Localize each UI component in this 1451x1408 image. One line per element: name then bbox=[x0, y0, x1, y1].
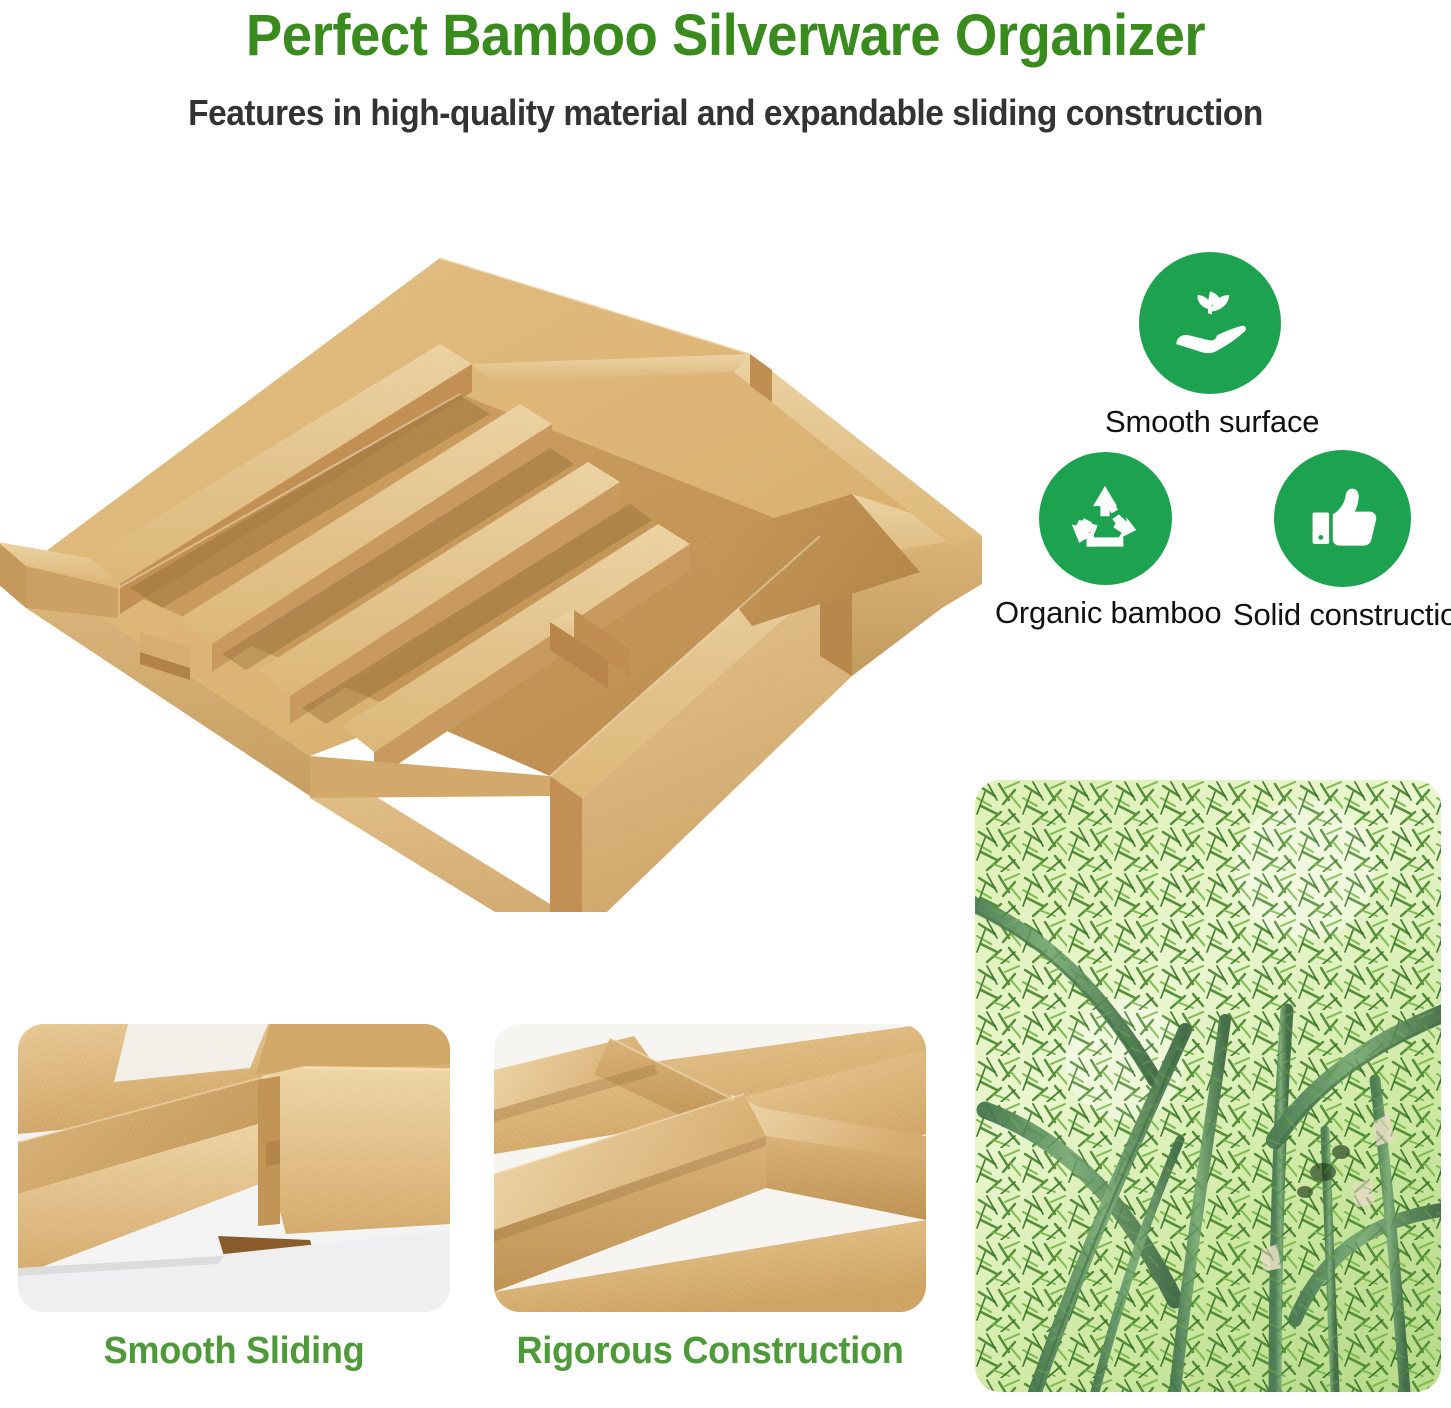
badge-label: Solid construction bbox=[1233, 597, 1451, 633]
page-title: Perfect Bamboo Silverware Organizer bbox=[44, 2, 1408, 69]
compartment-corner-closeup-photo bbox=[494, 1024, 926, 1312]
hero-product-photo bbox=[0, 236, 990, 912]
badge-label: Smooth surface bbox=[1105, 404, 1315, 440]
detail-smooth-sliding: Smooth Sliding bbox=[18, 1024, 450, 1373]
detail-caption: Rigorous Construction bbox=[505, 1330, 915, 1373]
detail-photo bbox=[494, 1024, 926, 1312]
bamboo-forest-illustration bbox=[975, 780, 1441, 1392]
detail-caption: Smooth Sliding bbox=[29, 1330, 439, 1373]
badge-solid-construction: Solid construction bbox=[1233, 450, 1451, 633]
badge-label: Organic bamboo bbox=[995, 595, 1215, 631]
sliding-joint-closeup-photo bbox=[18, 1024, 450, 1312]
page-subtitle: Features in high-quality material and ex… bbox=[51, 92, 1400, 134]
hand-holding-plant-icon bbox=[1162, 275, 1258, 371]
badge-smooth-surface: Smooth surface bbox=[1105, 252, 1315, 440]
badge-circle bbox=[1039, 452, 1172, 585]
detail-rigorous-construction: Rigorous Construction bbox=[494, 1024, 926, 1373]
detail-photo bbox=[18, 1024, 450, 1312]
badge-circle bbox=[1139, 252, 1281, 394]
bamboo-forest-photo bbox=[975, 780, 1441, 1392]
thumbs-up-icon bbox=[1296, 473, 1388, 565]
badge-circle bbox=[1274, 450, 1411, 587]
bamboo-drawer-organizer-photo bbox=[0, 236, 990, 912]
badge-organic-bamboo: Organic bamboo bbox=[995, 452, 1215, 631]
recycle-icon bbox=[1059, 473, 1151, 565]
header-banner: Perfect Bamboo Silverware Organizer Feat… bbox=[0, 0, 1451, 150]
